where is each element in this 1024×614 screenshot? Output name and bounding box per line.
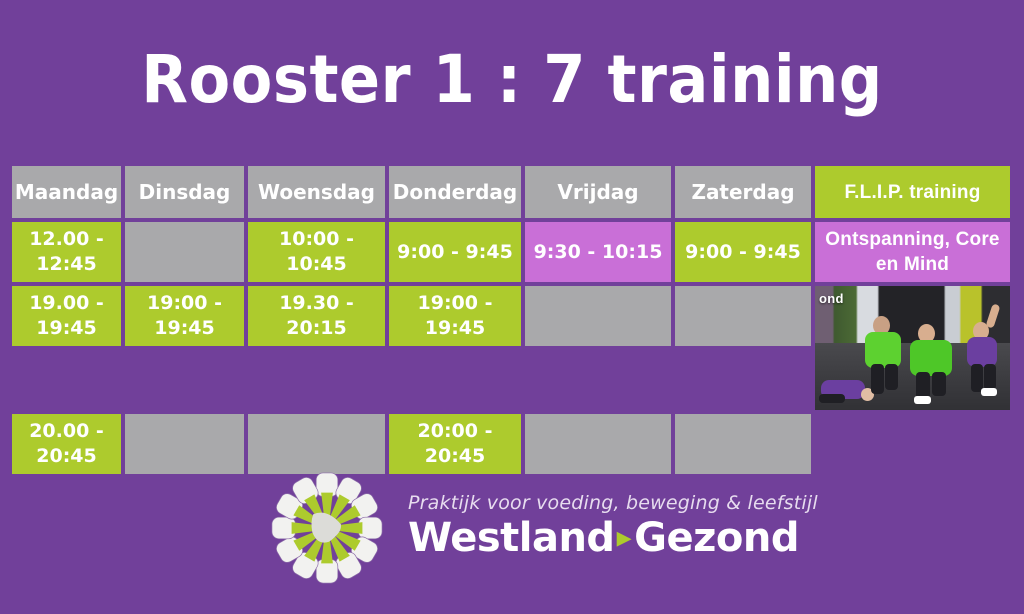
logo-word-westland: Westland <box>408 515 615 561</box>
logo-tagline: Praktijk voor voeding, beweging & leefst… <box>408 491 818 515</box>
slot-flip-ontspanning[interactable]: Ontspanning, Core en Mind <box>815 222 1010 282</box>
slot-woensdag-3 <box>248 414 385 474</box>
column-header-flip-training: F.L.I.P. training <box>815 166 1010 218</box>
column-header-dinsdag: Dinsdag <box>125 166 244 218</box>
slot-dinsdag-2[interactable]: 19:00 - 19:45 <box>125 286 244 346</box>
column-header-donderdag: Donderdag <box>389 166 521 218</box>
logo-wordmark: Westland ▸ Gezond <box>408 515 818 561</box>
column-header-woensdag: Woensdag <box>248 166 385 218</box>
slot-vrijdag-2 <box>525 286 671 346</box>
logo-separator-triangle-icon: ▸ <box>617 523 632 553</box>
slot-maandag-3[interactable]: 20.00 - 20:45 <box>12 414 121 474</box>
slot-zaterdag-2 <box>675 286 811 346</box>
slot-zaterdag-1[interactable]: 9:00 - 9:45 <box>675 222 811 282</box>
westland-gezond-mandala-icon <box>268 469 386 587</box>
page-title: Rooster 1 : 7 training <box>41 42 983 118</box>
table-row: 20.00 - 20:45 20:00 - 20:45 <box>12 414 1012 474</box>
column-header-zaterdag: Zaterdag <box>675 166 811 218</box>
person-green-centre <box>910 324 958 398</box>
slot-dinsdag-1 <box>125 222 244 282</box>
photo-watermark: ond <box>819 291 844 306</box>
slot-maandag-2[interactable]: 19.00 - 19:45 <box>12 286 121 346</box>
slot-donderdag-2[interactable]: 19:00 - 19:45 <box>389 286 521 346</box>
slot-donderdag-1[interactable]: 9:00 - 9:45 <box>389 222 521 282</box>
slot-donderdag-3[interactable]: 20:00 - 20:45 <box>389 414 521 474</box>
table-row: 19.00 - 19:45 19:00 - 19:45 19.30 - 20:1… <box>12 286 1012 410</box>
slot-maandag-1[interactable]: 12.00 - 12:45 <box>12 222 121 282</box>
person-purple-right <box>963 304 1009 394</box>
schedule-table: Maandag Dinsdag Woensdag Donderdag Vrijd… <box>12 166 1012 478</box>
column-header-maandag: Maandag <box>12 166 121 218</box>
slot-dinsdag-3 <box>125 414 244 474</box>
brand-logo: Praktijk voor voeding, beweging & leefst… <box>268 466 788 590</box>
logo-text-block: Praktijk voor voeding, beweging & leefst… <box>408 491 818 565</box>
slot-woensdag-2[interactable]: 19.30 - 20:15 <box>248 286 385 346</box>
slot-vrijdag-3 <box>525 414 671 474</box>
table-header-row: Maandag Dinsdag Woensdag Donderdag Vrijd… <box>12 166 1012 218</box>
slot-vrijdag-1[interactable]: 9:30 - 10:15 <box>525 222 671 282</box>
flip-training-photo: ond <box>815 286 1010 410</box>
slot-woensdag-1[interactable]: 10:00 - 10:45 <box>248 222 385 282</box>
table-row: 12.00 - 12:45 10:00 - 10:45 9:00 - 9:45 … <box>12 222 1012 282</box>
column-header-vrijdag: Vrijdag <box>525 166 671 218</box>
slot-zaterdag-3 <box>675 414 811 474</box>
logo-word-gezond: Gezond <box>634 515 799 561</box>
person-green-left <box>863 316 905 394</box>
